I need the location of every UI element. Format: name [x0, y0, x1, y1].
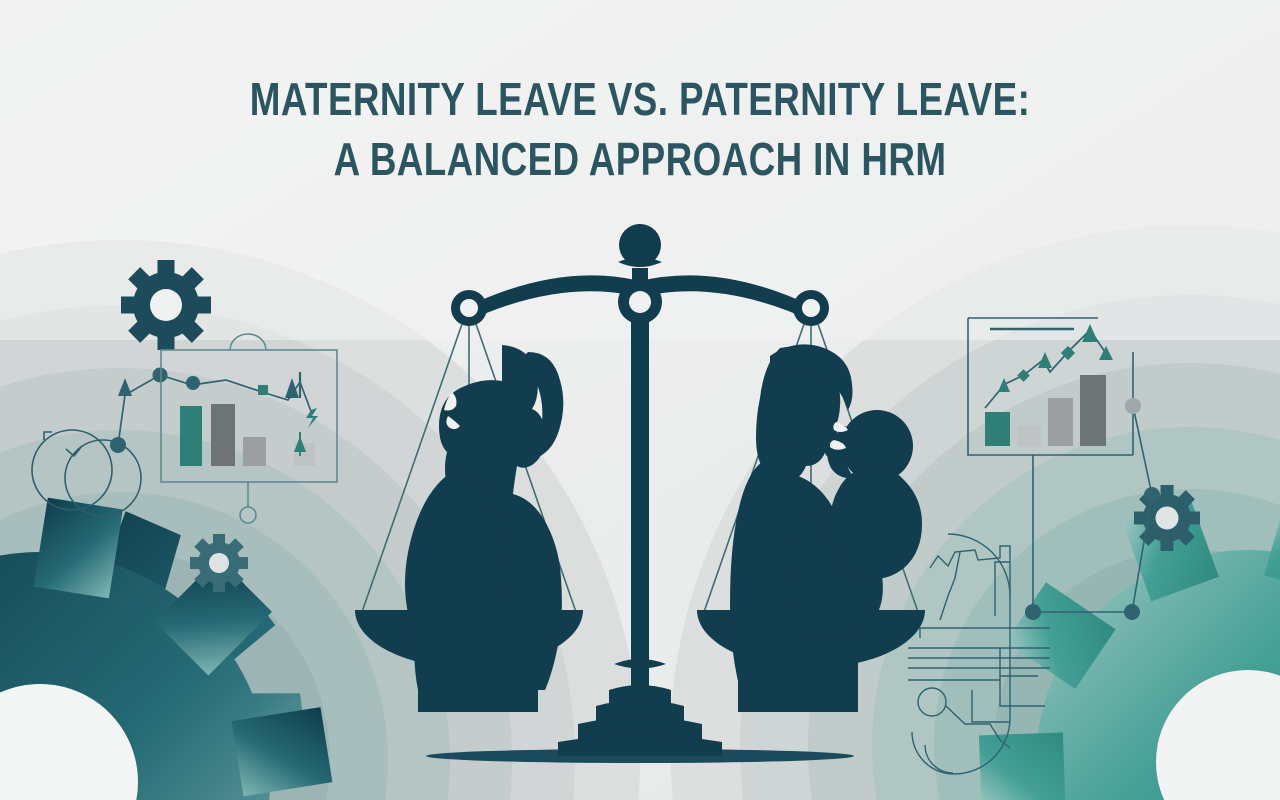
bar-3 — [243, 437, 266, 466]
arrow-marker — [998, 378, 1010, 392]
node-dot — [186, 376, 200, 390]
arrow-marker — [1038, 352, 1052, 368]
bar-2 — [1017, 426, 1041, 446]
father-holding-baby-silhouette — [730, 344, 922, 712]
page-title: MATERNITY LEAVE VS. PATERNITY LEAVE: A B… — [0, 76, 1280, 196]
pregnant-woman-silhouette — [405, 345, 563, 712]
title-line-2: A BALANCED APPROACH IN HRM — [128, 136, 1152, 182]
balance-scale-with-parents — [355, 224, 925, 763]
node-dot — [1144, 487, 1160, 503]
bolt-marker — [306, 408, 318, 428]
gear-icon-huge-bottom-left — [0, 459, 369, 800]
node-dot — [153, 368, 168, 383]
arrow-marker — [1099, 346, 1113, 360]
arrow-marker — [118, 378, 132, 396]
arrow-marker — [1082, 324, 1098, 342]
bar-1 — [985, 412, 1010, 446]
bar-series — [180, 404, 315, 466]
gear-icon-large-top-left — [121, 260, 211, 350]
gear-icon-small-left — [190, 534, 248, 592]
bar-1 — [180, 406, 202, 466]
bar-3 — [1048, 398, 1073, 446]
declining-chart-panel — [161, 334, 337, 523]
node-dot — [1025, 604, 1041, 620]
scale-column — [558, 300, 722, 756]
square-marker — [258, 385, 268, 395]
gear-icon-huge-bottom-right — [927, 431, 1280, 800]
bar-2 — [211, 404, 235, 466]
node-dot — [1125, 398, 1141, 414]
poster-canvas: MATERNITY LEAVE VS. PATERNITY LEAVE: A B… — [0, 0, 1280, 800]
growth-chart-panel — [968, 318, 1160, 620]
node-dot — [1124, 604, 1140, 620]
node-dot — [110, 437, 126, 453]
title-line-1: MATERNITY LEAVE VS. PATERNITY LEAVE: — [128, 76, 1152, 122]
bar-4 — [1080, 375, 1106, 446]
network-node-line-left — [110, 368, 192, 454]
